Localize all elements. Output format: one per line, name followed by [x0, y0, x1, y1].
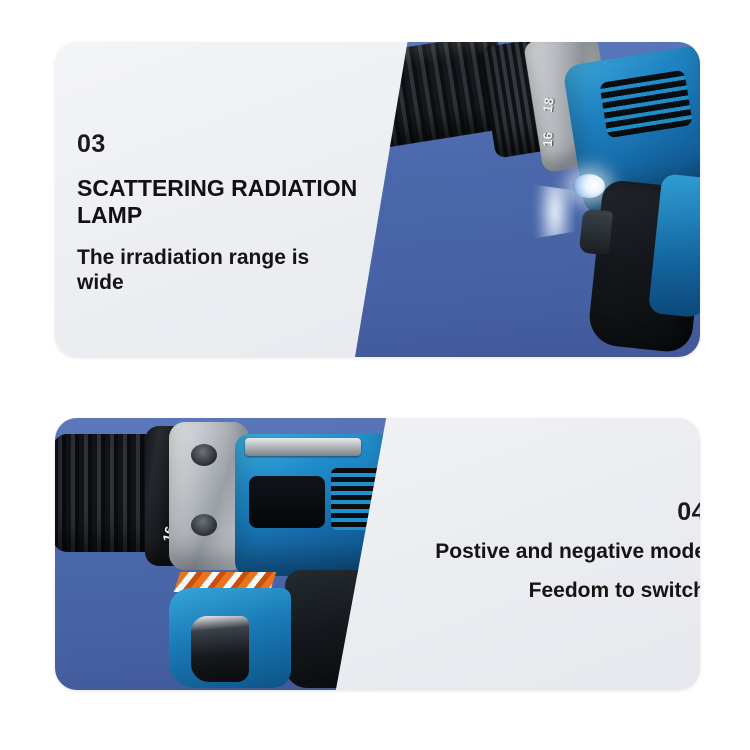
feature-subheading-04: Feedom to switch: [346, 578, 700, 603]
feature-subheading-03: The irradiation range is wide: [77, 245, 377, 295]
feature-text-block-04: 04 Postive and negative mode Feedom to s…: [346, 500, 700, 603]
drill-chuck-tip: [337, 48, 382, 126]
feature-card-03: 18 16 03 SCATTERING RADIATION LAMP The i…: [55, 42, 700, 357]
feature-heading-03: SCATTERING RADIATION LAMP: [77, 175, 377, 229]
feature-number-04: 04: [346, 500, 700, 525]
clutch-number-16: 16: [540, 132, 556, 147]
feature-card-04: 18 16 04 Postive and negative mode: [55, 418, 700, 690]
feature-heading-04: Postive and negative mode: [346, 539, 700, 564]
clutch-number-18: 18: [540, 97, 557, 114]
gear-case-hole-top: [191, 444, 217, 466]
feature-text-block-03: 03 SCATTERING RADIATION LAMP The irradia…: [77, 132, 377, 296]
drill-trigger: [579, 209, 613, 256]
drill-led-lamp: [573, 174, 605, 198]
product-feature-collage: 18 16 03 SCATTERING RADIATION LAMP The i…: [0, 0, 750, 750]
gear-case-hole-bottom: [191, 514, 217, 536]
drill-trigger: [191, 616, 249, 682]
cordless-drill-illustration-04: 18 16: [55, 420, 389, 688]
drill-screwdriver-bit: [245, 438, 361, 456]
drill-with-led-lamp-photo: 18 16: [325, 42, 700, 357]
feature-number-03: 03: [77, 132, 377, 157]
cordless-drill-illustration-03: 18 16: [337, 42, 700, 357]
drill-body-window: [249, 476, 325, 528]
